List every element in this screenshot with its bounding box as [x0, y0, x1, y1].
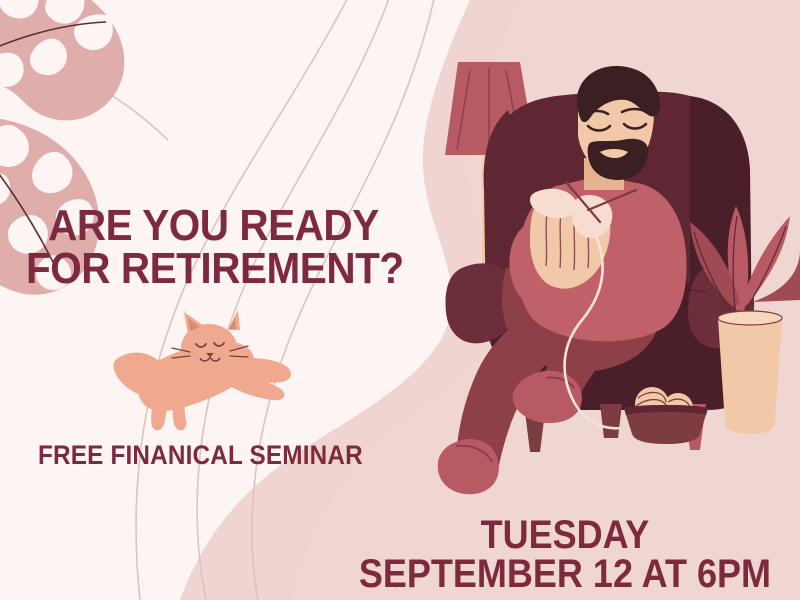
headline: ARE YOU READY FOR RETIREMENT?	[26, 204, 394, 290]
headline-line-2: FOR RETIREMENT?	[26, 247, 394, 290]
headline-line-1: ARE YOU READY	[26, 204, 394, 247]
subheadline: FREE FINANICAL SEMINAR	[38, 440, 363, 471]
event-day: TUESDAY	[359, 516, 771, 555]
event-date-time: SEPTEMBER 12 AT 6PM	[359, 555, 771, 594]
stretching-cat-illustration	[0, 0, 800, 600]
event-date-block: TUESDAY SEPTEMBER 12 AT 6PM	[336, 516, 794, 594]
retirement-seminar-poster: ARE YOU READY FOR RETIREMENT? FREE FINAN…	[0, 0, 800, 600]
cat-figure	[114, 310, 291, 430]
